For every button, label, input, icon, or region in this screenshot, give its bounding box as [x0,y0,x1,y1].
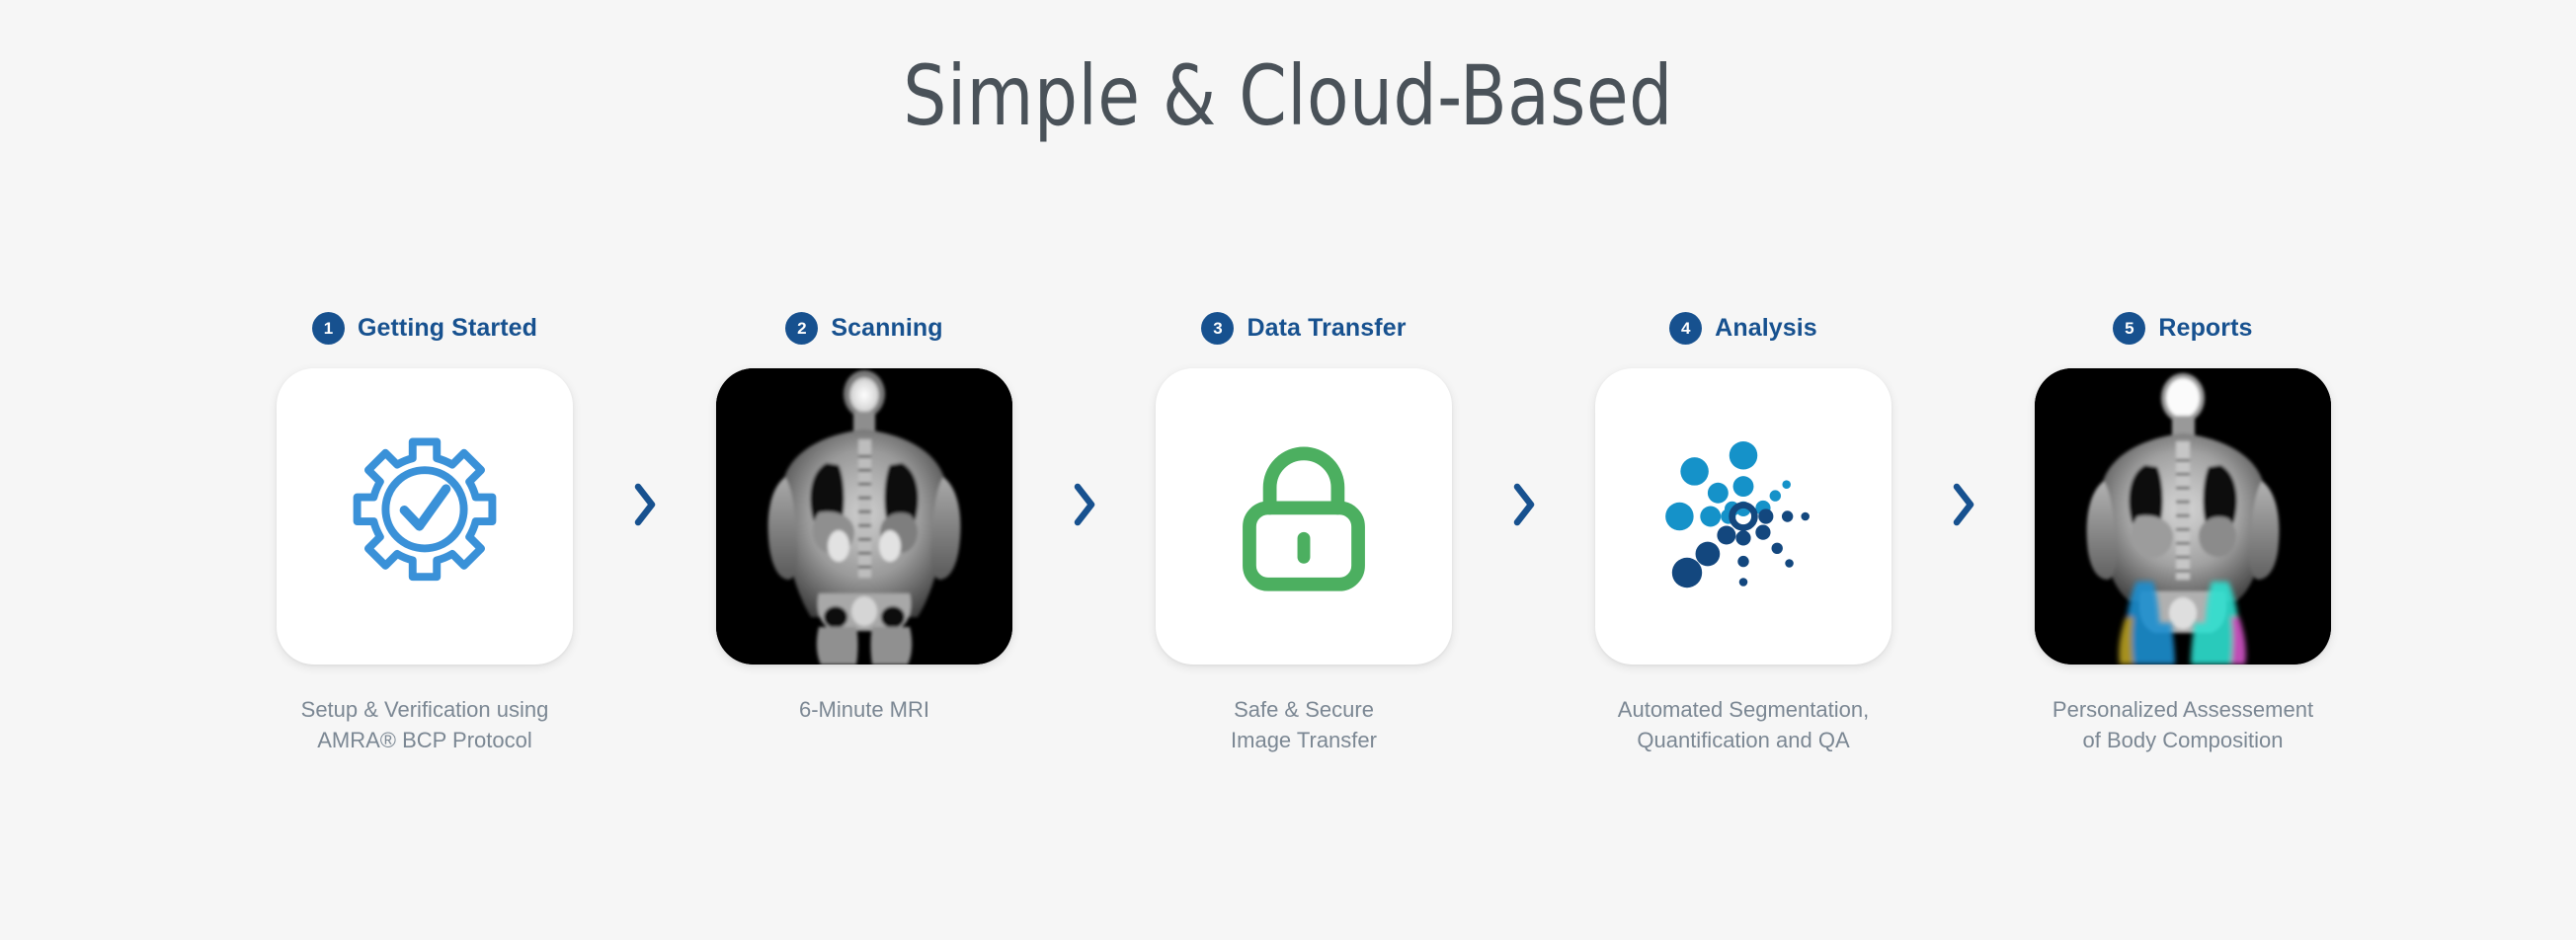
step-card-4[interactable] [1595,368,1892,665]
gear-check-icon [336,428,514,605]
step-label-4: Analysis [1715,314,1817,343]
chevron-right-icon-4 [1929,481,1998,528]
step-number-badge-3: 3 [1201,312,1234,345]
radial-dots-analysis-icon [1650,423,1837,610]
step-number-badge-5: 5 [2113,312,2145,345]
step-header-1: 1 Getting Started [312,306,537,350]
step-analysis: 4 Analysis [1561,306,1926,755]
step-label-3: Data Transfer [1247,314,1406,343]
step-card-2[interactable] [716,368,1012,665]
step-card-5[interactable] [2035,368,2331,665]
step-number-badge-4: 4 [1669,312,1702,345]
step-header-3: 3 Data Transfer [1201,306,1406,350]
step-card-1[interactable] [277,368,573,665]
step-number-badge-1: 1 [312,312,345,345]
chevron-right-icon-3 [1489,481,1559,528]
step-label-1: Getting Started [358,314,537,343]
step-number-badge-2: 2 [785,312,818,345]
step-label-2: Scanning [831,314,942,343]
step-header-5: 5 Reports [2113,306,2252,350]
process-steps-strip: 1 Getting Started Setup & Verification u… [242,306,2366,755]
chevron-right-icon-2 [1050,481,1119,528]
step-header-4: 4 Analysis [1669,306,1817,350]
step-reports: 5 Reports [2000,306,2366,755]
step-data-transfer: 3 Data Transfer Safe & Secure Image Tran… [1121,306,1487,755]
step-card-3[interactable] [1156,368,1452,665]
step-caption-3: Safe & Secure Image Transfer [1126,694,1482,755]
mri-coronal-scan-image [716,368,1012,665]
step-caption-5: Personalized Assessement of Body Composi… [2005,694,2361,755]
chevron-right-icon-1 [610,481,680,528]
step-caption-1: Setup & Verification using AMRA® BCP Pro… [247,694,603,755]
mri-segmented-color-scan-image [2035,368,2331,665]
step-caption-4: Automated Segmentation, Quantification a… [1566,694,1921,755]
page-root: Simple & Cloud-Based 1 Getting Started S… [0,0,2576,940]
step-scanning: 2 Scanning [682,306,1047,725]
step-getting-started: 1 Getting Started Setup & Verification u… [242,306,607,755]
step-label-5: Reports [2158,314,2252,343]
lock-icon [1219,431,1389,601]
step-header-2: 2 Scanning [785,306,942,350]
page-title: Simple & Cloud-Based [103,47,2472,144]
step-caption-2: 6-Minute MRI [686,694,1042,725]
